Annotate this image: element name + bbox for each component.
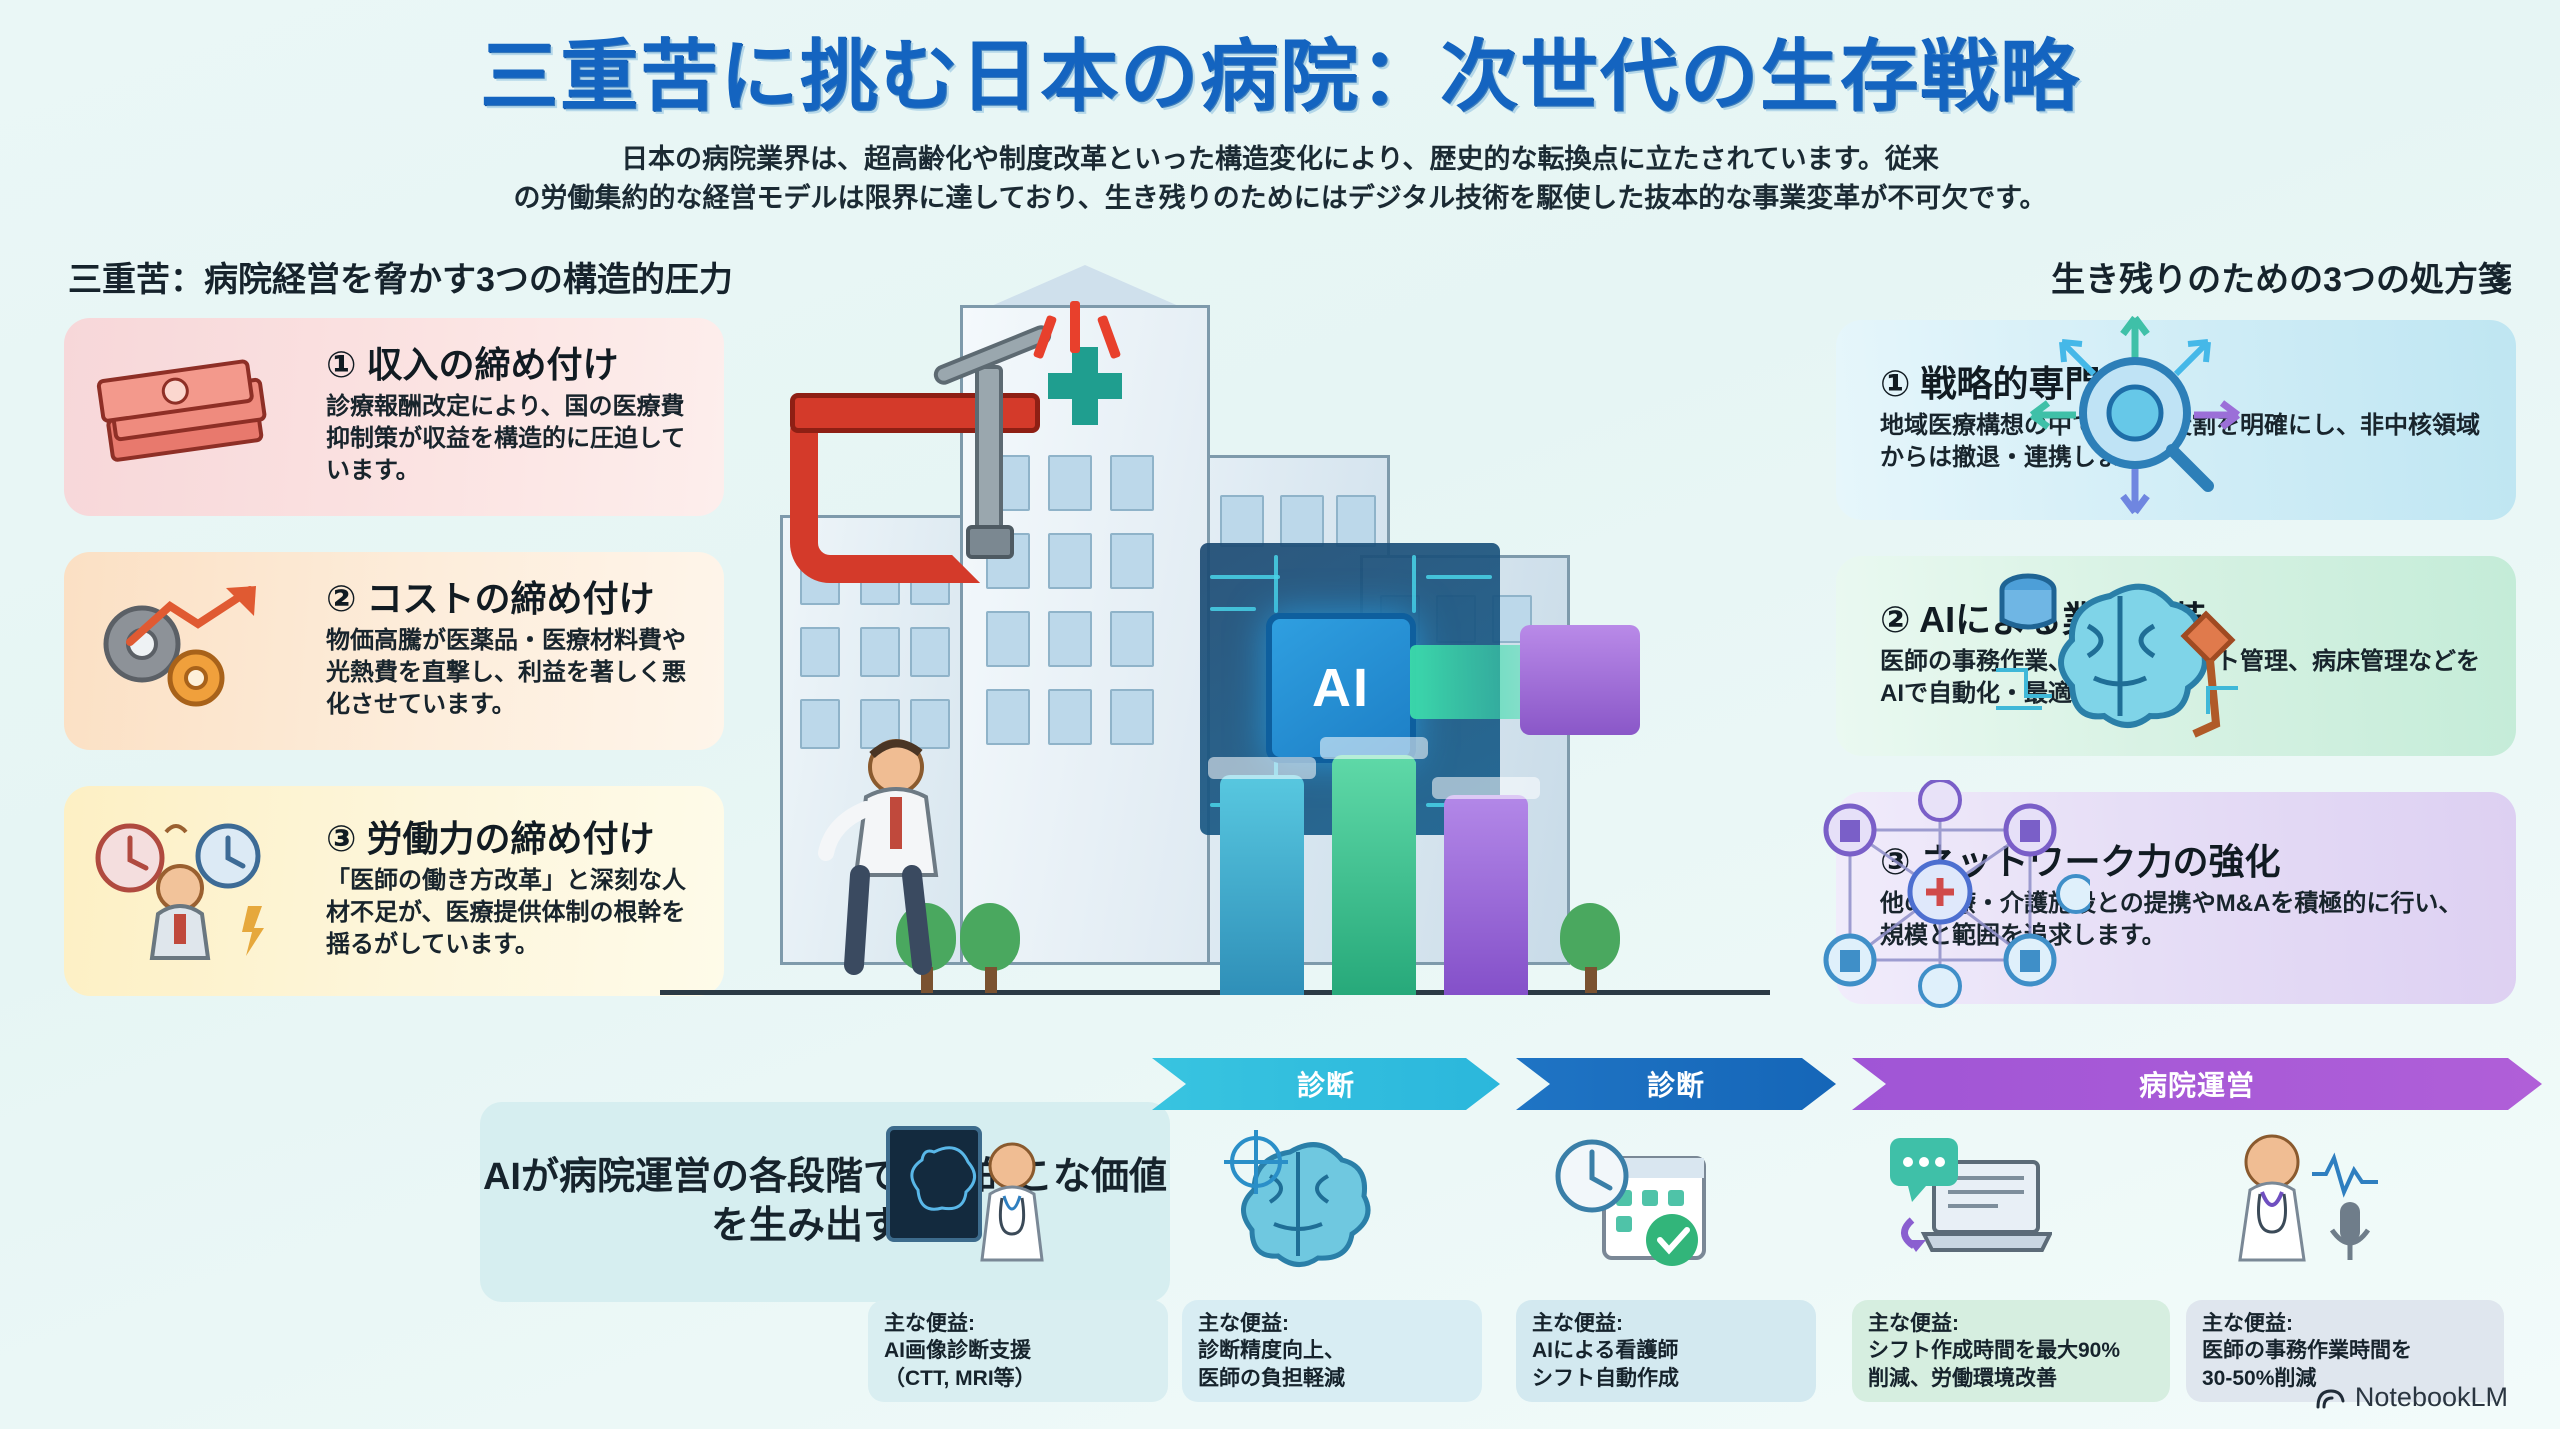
pressure-card-2-title-text: コストの締め付け: [367, 578, 655, 619]
notebooklm-logo-icon: [2315, 1387, 2345, 1409]
pressure-card-1: ① 収入の締め付け 診療報酬改定により、国の医療費抑制策が収益を構造的に圧迫して…: [64, 318, 724, 516]
pressure-card-1-title-text: 収入の締め付け: [367, 344, 619, 385]
pressure-card-2-number: ②: [326, 578, 356, 619]
pillar-green: [1332, 755, 1416, 995]
flow-header-diagnosis-1: 診断: [1152, 1058, 1500, 1110]
clamp-pad: [966, 525, 1014, 559]
money-stack-icon: [90, 352, 280, 482]
benefit-line-2a: 診断精度向上、: [1198, 1337, 1466, 1364]
benefit-label-1: 主な便益:: [884, 1310, 1152, 1337]
benefit-line-4a: シフト作成時間を最大90%: [1868, 1337, 2154, 1364]
brain-scan-doctor-icon: [884, 1118, 1054, 1286]
brain-robotarm-icon: [1990, 548, 2250, 778]
page-title: 三重苦に挑む日本の病院：次世代の生存戦略: [0, 14, 2560, 126]
subtitle-line-2: の労働集約的な経営モデルは限界に達しており、生き残りのためにはデジタル技術を駆使…: [340, 179, 2220, 218]
clock-calendar-check-icon: [1548, 1118, 1718, 1286]
right-section-heading: 生き残りのための3つの処方箋: [2051, 252, 2512, 301]
benefit-label-5: 主な便益:: [2202, 1310, 2488, 1337]
stressed-person-icon: [800, 725, 990, 975]
pressure-card-3-title-text: 労働力の締め付け: [367, 818, 655, 859]
pillar-cyan: [1220, 775, 1304, 995]
subtitle-line-1: 日本の病院業界は、超高齢化や制度改革といった構造変化により、歴史的な転換点に立た…: [340, 140, 2220, 179]
pressure-card-3: ③ 労働力の締め付け 「医師の働き方改革」と深刻な人材不足が、医療提供体制の根幹…: [64, 786, 724, 996]
hospital-ai-illustration: AI: [660, 255, 1960, 1015]
infographic-page: 三重苦に挑む日本の病院：次世代の生存戦略 日本の病院業界は、超高齢化や制度改革と…: [0, 0, 2560, 1429]
pillar-purple: [1444, 795, 1528, 995]
watermark-text: NotebookLM: [2355, 1382, 2508, 1413]
magnifier-arrows-icon: [2010, 300, 2260, 530]
benefit-line-5a: 医師の事務作業時間を: [2202, 1337, 2488, 1364]
benefit-line-2b: 医師の負担軽減: [1198, 1365, 1466, 1392]
chat-laptop-icon: [1882, 1118, 2052, 1286]
pressure-card-3-number: ③: [326, 818, 356, 859]
doctor-microphone-icon: [2216, 1118, 2386, 1286]
benefit-box-3: 主な便益: AIによる看護師 シフト自動作成: [1516, 1300, 1816, 1402]
clock-stressed-worker-icon: [88, 814, 288, 964]
bottom-lead-box: AIが病院運営の各段階で具体的こな価値を生み出すか: [480, 1102, 1170, 1302]
pressure-card-2: ② コストの締め付け 物価高騰が医薬品・医療材料費や光熱費を直撃し、利益を著しく…: [64, 552, 724, 750]
benefit-line-3a: AIによる看護師: [1532, 1337, 1800, 1364]
page-subtitle: 日本の病院業界は、超高齢化や制度改革といった構造変化により、歴史的な転換点に立た…: [340, 140, 2220, 218]
notebooklm-watermark: NotebookLM: [2315, 1382, 2508, 1413]
benefit-label-4: 主な便益:: [1868, 1310, 2154, 1337]
benefit-line-1b: （CTT, MRI等）: [884, 1365, 1152, 1392]
flow-header-hospital-operations: 病院運営: [1852, 1058, 2542, 1110]
clamp-screw: [975, 365, 1003, 550]
benefit-label-2: 主な便益:: [1198, 1310, 1466, 1337]
left-section-heading: 三重苦：病院経営を脅かす3つの構造的圧力: [68, 252, 733, 301]
benefit-box-4: 主な便益: シフト作成時間を最大90% 削減、労働環境改善: [1852, 1300, 2170, 1402]
pressure-card-1-number: ①: [326, 344, 356, 385]
impact-spark-icon: [1070, 301, 1080, 353]
benefit-box-2: 主な便益: 診断精度向上、 医師の負担軽減: [1182, 1300, 1482, 1402]
flow-header-diagnosis-2: 診断: [1516, 1058, 1836, 1110]
benefit-box-1: 主な便益: AI画像診断支援 （CTT, MRI等）: [868, 1300, 1168, 1402]
tree-icon: [1560, 903, 1620, 993]
benefit-line-3b: シフト自動作成: [1532, 1365, 1800, 1392]
c-clamp-icon: [780, 375, 1110, 615]
benefit-label-3: 主な便益:: [1532, 1310, 1800, 1337]
benefit-line-4b: 削減、労働環境改善: [1868, 1365, 2154, 1392]
brain-target-icon: [1212, 1118, 1382, 1286]
ai-output-cannon: [1520, 625, 1640, 735]
gears-rising-cost-icon: [90, 582, 285, 722]
benefit-line-1a: AI画像診断支援: [884, 1337, 1152, 1364]
